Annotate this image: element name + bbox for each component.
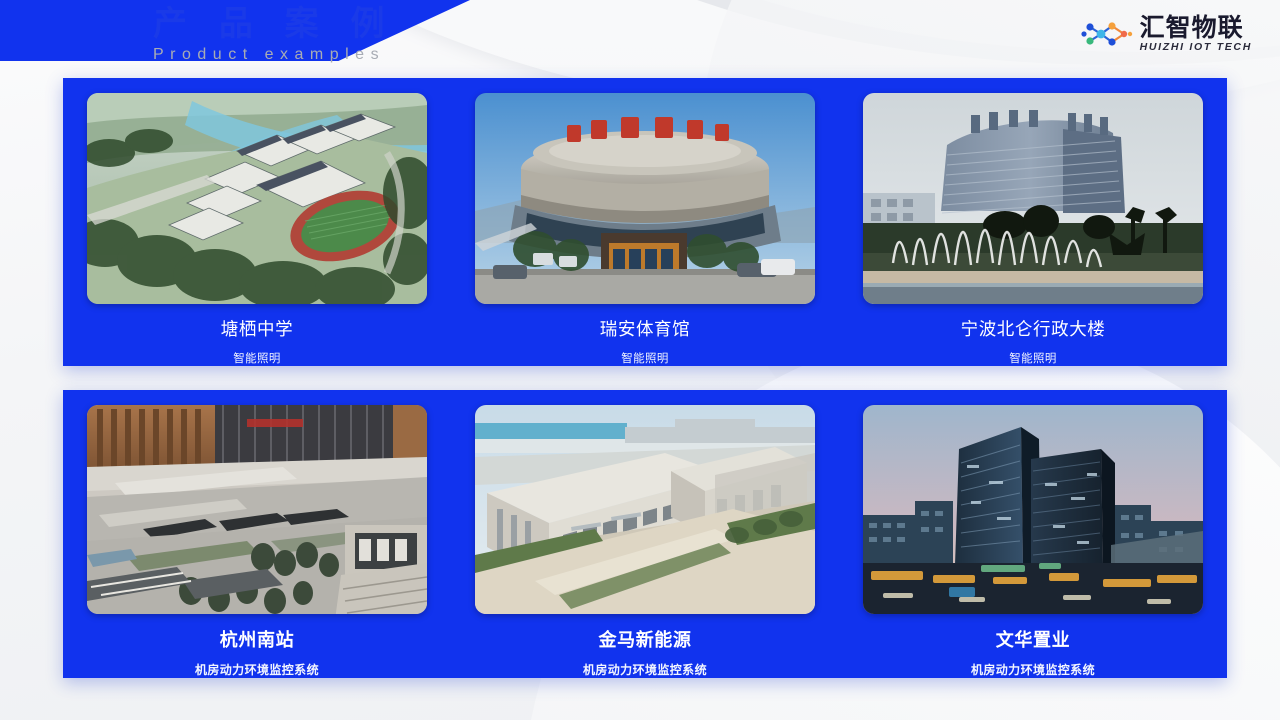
molecule-network-icon <box>1081 15 1133 53</box>
case-title: 瑞安体育馆 <box>600 316 691 341</box>
brand-name-block: 汇智物联 HUIZHI IOT TECH <box>1140 14 1252 54</box>
industrial-park-photo <box>475 405 815 614</box>
case-card[interactable]: 宁波北仑行政大楼 智能照明 <box>839 78 1227 366</box>
case-subtitle: 机房动力环境监控系统 <box>971 661 1095 678</box>
case-title: 塘栖中学 <box>221 316 293 341</box>
case-subtitle: 机房动力环境监控系统 <box>195 661 319 678</box>
slide-root: 产 品 案 例 Product examples <box>0 0 1280 720</box>
case-card[interactable]: 文华置业 机房动力环境监控系统 <box>839 390 1227 678</box>
case-title: 金马新能源 <box>599 626 692 652</box>
brand-name-en: HUIZHI IOT TECH <box>1140 41 1252 54</box>
case-card[interactable]: 金马新能源 机房动力环境监控系统 <box>451 390 839 678</box>
case-card[interactable]: 瑞安体育馆 智能照明 <box>451 78 839 366</box>
case-title: 宁波北仑行政大楼 <box>961 316 1106 341</box>
slide-header: 产 品 案 例 Product examples <box>0 0 1280 72</box>
case-subtitle: 智能照明 <box>1009 350 1057 366</box>
office-tower-fountain-photo <box>863 93 1203 304</box>
case-subtitle: 智能照明 <box>621 350 669 366</box>
aerial-campus-photo <box>87 93 427 304</box>
case-panel-row-1: 塘栖中学 智能照明 <box>63 78 1227 366</box>
case-subtitle: 智能照明 <box>233 350 281 366</box>
station-rooftop-photo <box>87 405 427 614</box>
case-title: 文华置业 <box>996 626 1070 652</box>
case-card[interactable]: 杭州南站 机房动力环境监控系统 <box>63 390 451 678</box>
gymnasium-building-photo <box>475 93 815 304</box>
brand-name-cn: 汇智物联 <box>1140 14 1252 41</box>
city-skyline-dusk-photo <box>863 405 1203 614</box>
case-subtitle: 机房动力环境监控系统 <box>583 661 707 678</box>
page-subtitle: Product examples <box>153 45 395 65</box>
page-title-group: 产 品 案 例 Product examples <box>153 2 395 65</box>
page-title: 产 品 案 例 <box>153 2 395 46</box>
brand-logo: 汇智物联 HUIZHI IOT TECH <box>1081 14 1252 54</box>
case-panel-row-2: 杭州南站 机房动力环境监控系统 <box>63 390 1227 678</box>
case-title: 杭州南站 <box>220 626 294 652</box>
case-card[interactable]: 塘栖中学 智能照明 <box>63 78 451 366</box>
